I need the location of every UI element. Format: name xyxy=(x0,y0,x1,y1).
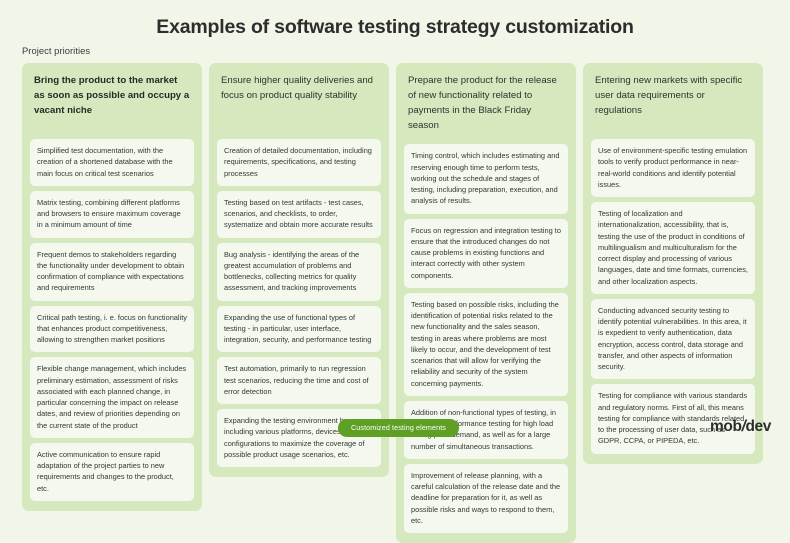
testing-element-item: Testing of localization and internationa… xyxy=(591,202,755,294)
page-footer: Customized testing elements mob/dev xyxy=(0,418,790,444)
testing-element-item: Critical path testing, i. e. focus on fu… xyxy=(30,306,194,353)
testing-element-item: Focus on regression and integration test… xyxy=(404,219,568,288)
testing-element-item: Conducting advanced security testing to … xyxy=(591,299,755,380)
infographic-page: Examples of software testing strategy cu… xyxy=(0,0,790,444)
testing-element-item: Simplified test documentation, with the … xyxy=(30,139,194,186)
testing-element-item: Bug analysis - identifying the areas of … xyxy=(217,243,381,301)
strategy-column: Prepare the product for the release of n… xyxy=(396,63,576,543)
testing-element-item: Frequent demos to stakeholders regarding… xyxy=(30,243,194,301)
column-header: Entering new markets with specific user … xyxy=(591,72,755,134)
mobidev-logo: mob/dev xyxy=(710,418,771,436)
column-header: Ensure higher quality deliveries and foc… xyxy=(217,72,381,134)
strategy-columns: Bring the product to the market as soon … xyxy=(22,63,770,543)
testing-element-item: Expanding the use of functional types of… xyxy=(217,306,381,353)
column-header: Bring the product to the market as soon … xyxy=(30,72,194,134)
testing-element-item: Use of environment-specific testing emul… xyxy=(591,139,755,197)
legend-badge-customized-testing-elements: Customized testing elements xyxy=(338,419,459,437)
testing-element-item: Active communication to ensure rapid ada… xyxy=(30,443,194,501)
logo-text-left: mob xyxy=(710,418,742,435)
testing-element-item: Matrix testing, combining different plat… xyxy=(30,191,194,238)
testing-element-item: Timing control, which includes estimatin… xyxy=(404,144,568,213)
page-title: Examples of software testing strategy cu… xyxy=(0,0,790,38)
testing-element-item: Creation of detailed documentation, incl… xyxy=(217,139,381,186)
strategy-column: Entering new markets with specific user … xyxy=(583,63,763,464)
testing-element-item: Improvement of release planning, with a … xyxy=(404,464,568,533)
testing-element-item: Testing based on possible risks, includi… xyxy=(404,293,568,396)
testing-element-item: Testing based on test artifacts - test c… xyxy=(217,191,381,238)
logo-text-right: dev xyxy=(745,418,771,435)
testing-element-item: Test automation, primarily to run regres… xyxy=(217,357,381,404)
strategy-column: Ensure higher quality deliveries and foc… xyxy=(209,63,389,477)
section-label-project-priorities: Project priorities xyxy=(22,45,90,56)
column-header: Prepare the product for the release of n… xyxy=(404,72,568,139)
